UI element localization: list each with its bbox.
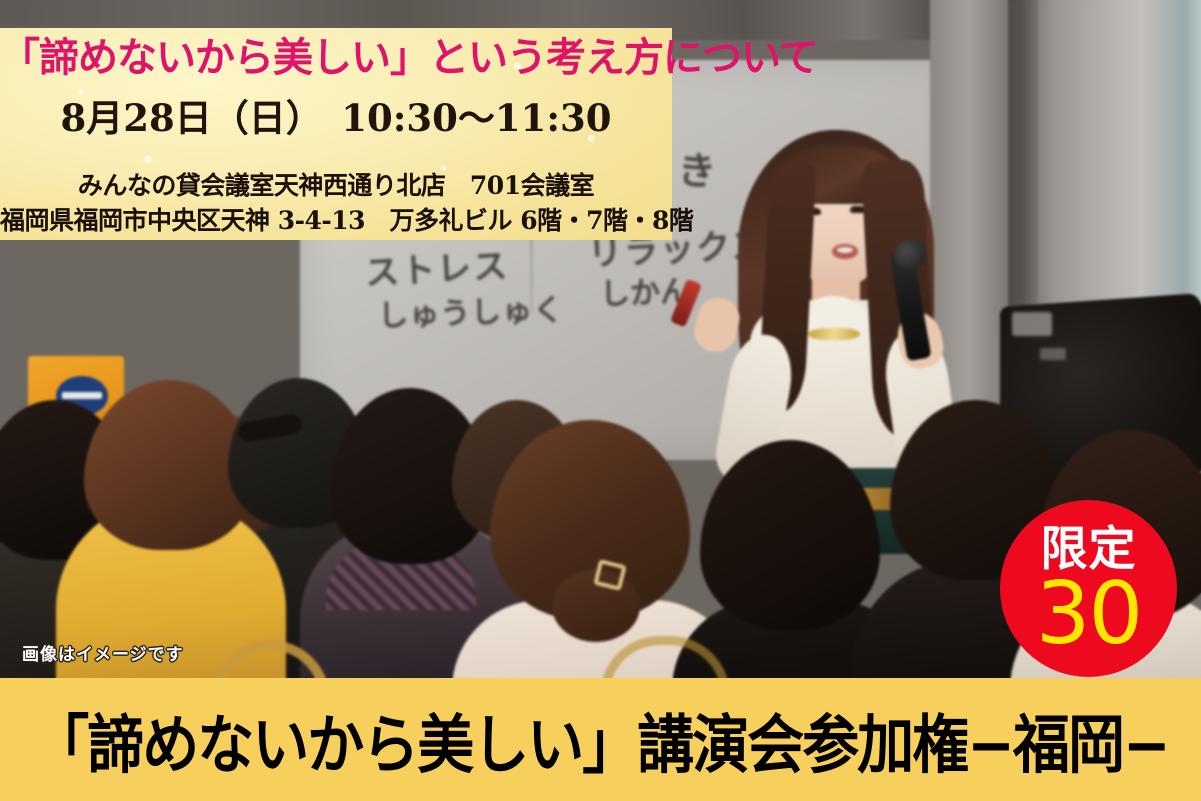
image-disclaimer: 画像はイメージです <box>22 640 184 665</box>
event-address: 福岡県福岡市中央区天神 3-4-13 万多礼ビル 6階・7階・8階 <box>0 201 672 237</box>
camera-highlight <box>1012 312 1052 336</box>
speaker-necklace <box>808 328 860 340</box>
bag-logo-stripe <box>62 392 102 399</box>
event-venue: みんなの貸会議室天神西通り北店 701会議室 <box>0 166 672 202</box>
event-date-time: 8月28日（日） 10:30〜11:30 <box>0 88 672 142</box>
banner-product-title: 「諦めないから美しい」講演会参加権−福岡− <box>32 694 1169 786</box>
bottom-banner: 「諦めないから美しい」講演会参加権−福岡− <box>0 678 1201 801</box>
badge-seat-count: 30 <box>1036 575 1141 654</box>
header-info-box: 「諦めないから美しい」という考え方について 8月28日（日） 10:30〜11:… <box>0 28 672 240</box>
handwriting-stress: ストレス <box>364 238 510 294</box>
handwriting-shushuku: しゅうしゅく <box>377 285 564 335</box>
speaker-hand-left <box>690 294 744 357</box>
camera-highlight-secondary <box>1040 348 1066 360</box>
event-poster: き ストレス しゅうしゅく リラックス しかん <box>0 0 1201 801</box>
speaker-teeth <box>837 247 853 253</box>
limited-seats-badge: 限定 30 <box>1000 500 1177 677</box>
event-title: 「諦めないから美しい」という考え方について <box>0 36 672 81</box>
